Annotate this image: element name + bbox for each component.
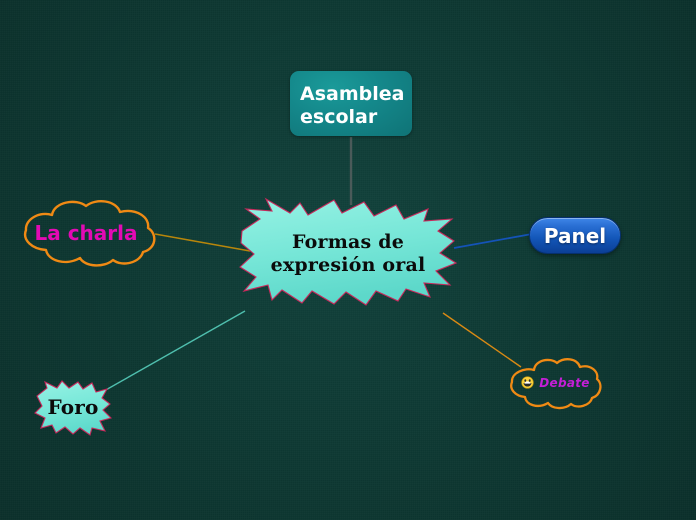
node-panel[interactable]: Panel (529, 217, 621, 254)
edge-center-to-panel (454, 234, 532, 248)
mindmap-canvas: Formas de expresión oral Asamblea escola… (0, 0, 696, 520)
node-asamblea-label-line1: Asamblea (300, 83, 412, 106)
cloud-shape-debate (508, 355, 603, 411)
edge-center-to-charla (155, 234, 250, 251)
starburst-shape-foro (34, 379, 112, 437)
node-debate[interactable]: Debate (508, 355, 603, 411)
cloud-shape-charla (12, 197, 160, 269)
node-center-formas-de-expresion-oral[interactable]: Formas de expresión oral (238, 197, 458, 310)
starburst-shape-center (238, 197, 458, 310)
node-la-charla[interactable]: La charla (12, 197, 160, 269)
node-asamblea-label-line2: escolar (300, 106, 412, 129)
node-asamblea-escolar[interactable]: Asamblea escolar (290, 71, 412, 136)
node-panel-label: Panel (544, 224, 606, 248)
node-foro[interactable]: Foro (34, 379, 112, 437)
edge-center-to-foro (104, 311, 245, 391)
